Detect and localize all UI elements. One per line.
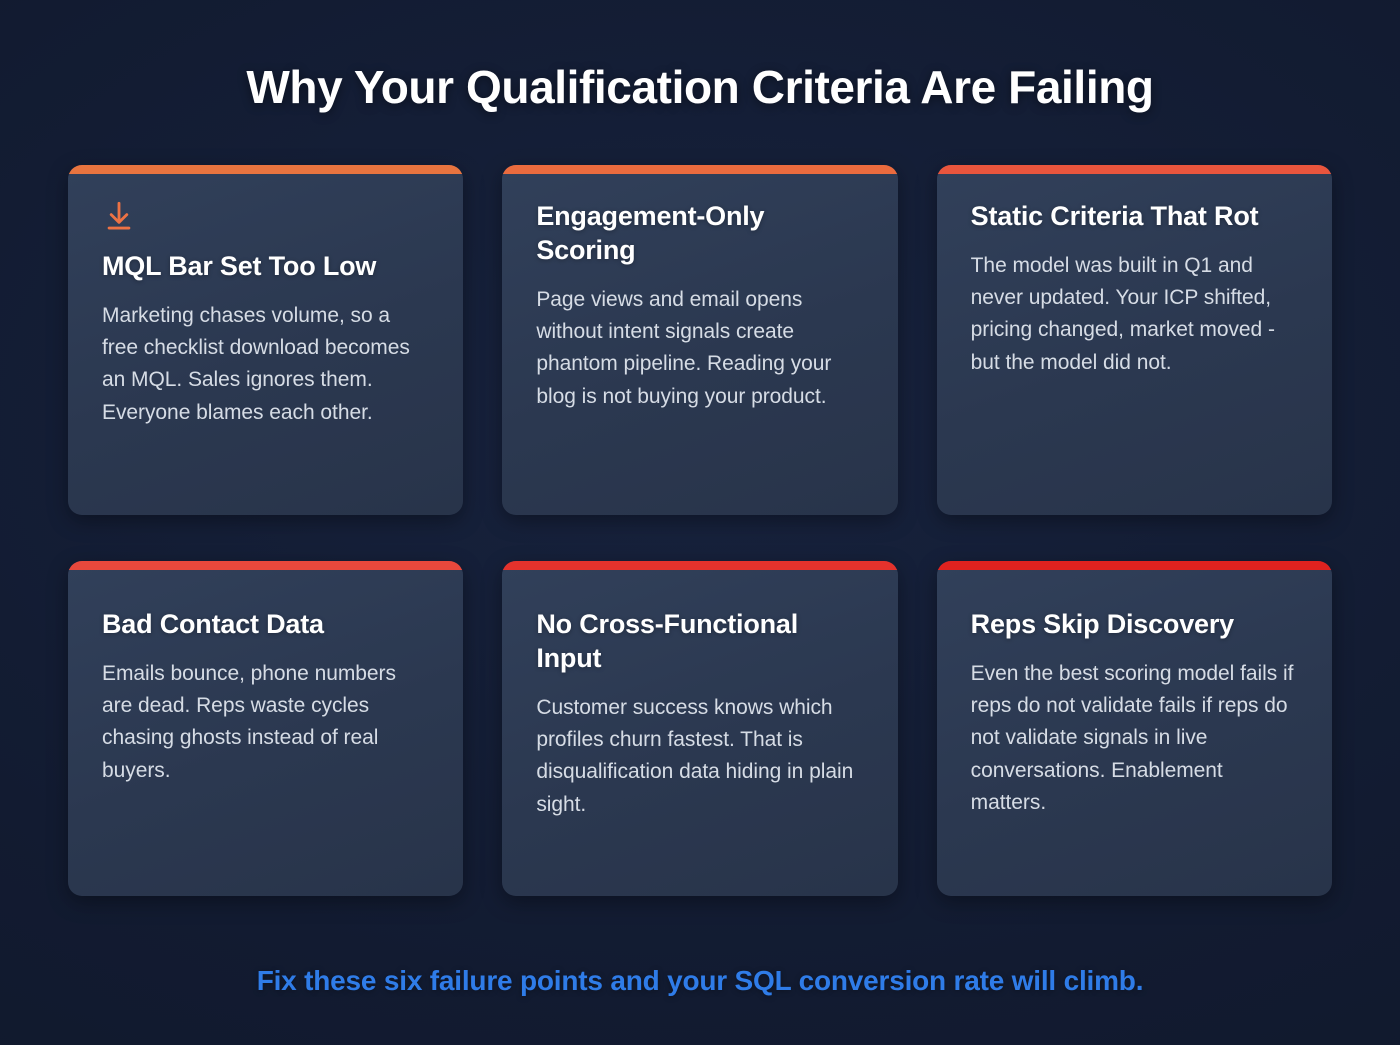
failure-card: Reps Skip Discovery Even the best scorin… [937,561,1332,896]
card-accent-bar [68,165,463,174]
card-title: MQL Bar Set Too Low [102,249,429,283]
failure-card: Bad Contact Data Emails bounce, phone nu… [68,561,463,896]
card-body: Even the best scoring model fails if rep… [971,658,1298,820]
card-accent-bar [937,561,1332,570]
failure-card: Engagement-Only Scoring Page views and e… [502,165,897,515]
card-body: Marketing chases volume, so a free check… [102,300,429,429]
card-body: Emails bounce, phone numbers are dead. R… [102,658,429,787]
card-accent-bar [68,561,463,570]
card-accent-bar [502,561,897,570]
page-title: Why Your Qualification Criteria Are Fail… [0,62,1400,113]
card-title: No Cross-Functional Input [536,607,863,675]
card-body: Customer success knows which profiles ch… [536,692,863,821]
failure-card: MQL Bar Set Too Low Marketing chases vol… [68,165,463,515]
card-body: Page views and email opens without inten… [536,284,863,413]
failure-card: Static Criteria That Rot The model was b… [937,165,1332,515]
card-title: Reps Skip Discovery [971,607,1298,641]
card-title: Bad Contact Data [102,607,429,641]
card-accent-bar [502,165,897,174]
card-body: The model was built in Q1 and never upda… [971,250,1298,379]
card-title: Engagement-Only Scoring [536,199,863,267]
download-icon [102,199,136,233]
infographic-page: Why Your Qualification Criteria Are Fail… [0,0,1400,1045]
failure-card: No Cross-Functional Input Customer succe… [502,561,897,896]
footer-callout: Fix these six failure points and your SQ… [0,965,1400,997]
card-title: Static Criteria That Rot [971,199,1298,233]
failure-points-grid: MQL Bar Set Too Low Marketing chases vol… [68,165,1332,896]
card-accent-bar [937,165,1332,174]
